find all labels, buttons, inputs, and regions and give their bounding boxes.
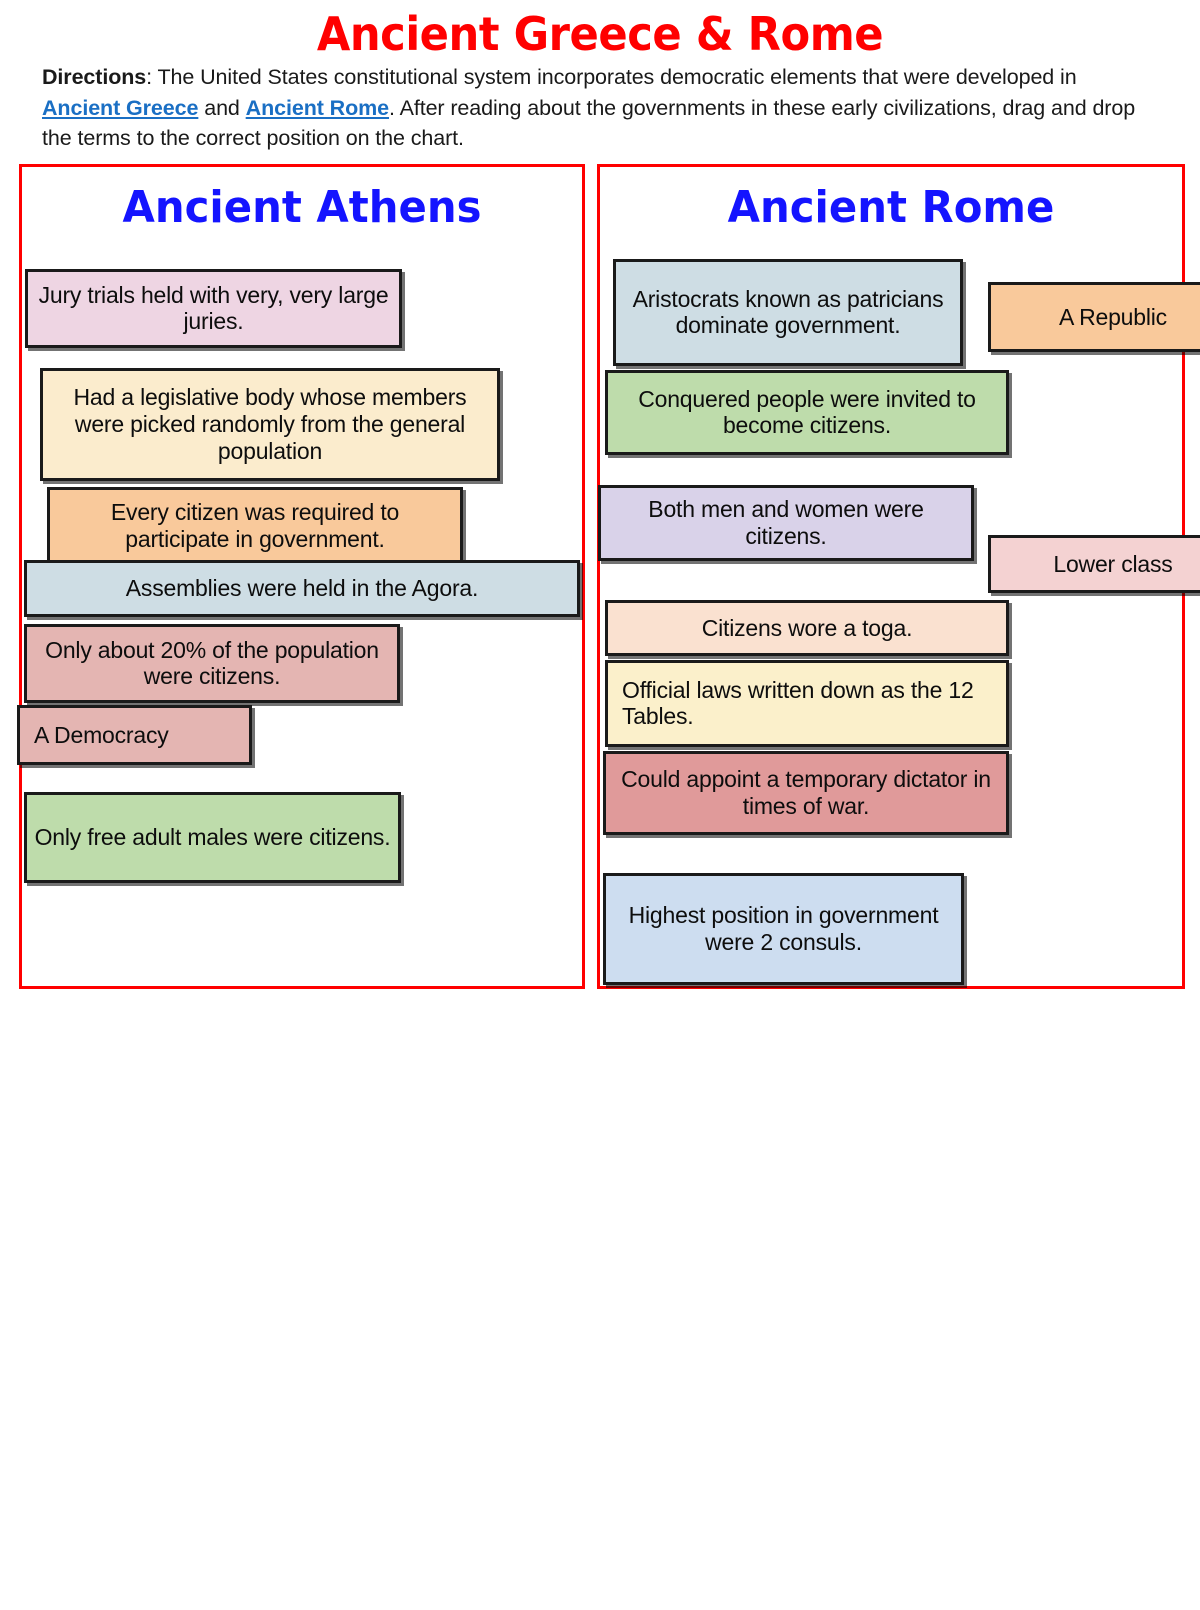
term-tile-label: Assemblies were held in the Agora.	[33, 575, 571, 602]
term-tile-a-democracy[interactable]: A Democracy	[17, 705, 252, 765]
term-tile-aristocrats-patricians[interactable]: Aristocrats known as patricians dominate…	[613, 259, 963, 366]
term-tile-two-consuls[interactable]: Highest position in government were 2 co…	[603, 873, 964, 985]
term-tile-assemblies-agora[interactable]: Assemblies were held in the Agora.	[24, 560, 580, 617]
heading-ancient-athens: Ancient Athens	[33, 186, 571, 230]
term-tile-label: Only about 20% of the population were ci…	[33, 637, 391, 690]
directions-part2: and	[198, 96, 245, 120]
term-tile-label: A Republic	[997, 304, 1200, 331]
term-tile-label: Could appoint a temporary dictator in ti…	[612, 766, 1000, 819]
term-tile-label: Had a legislative body whose members wer…	[49, 384, 491, 464]
term-tile-twelve-tables[interactable]: Official laws written down as the 12 Tab…	[605, 660, 1009, 747]
drag-drop-chart: Ancient Athens Ancient Rome Jury trials …	[0, 164, 1200, 1024]
link-ancient-greece[interactable]: Ancient Greece	[42, 96, 198, 120]
term-tile-label: Official laws written down as the 12 Tab…	[622, 677, 1000, 730]
term-tile-conquered-people[interactable]: Conquered people were invited to become …	[605, 370, 1009, 455]
term-tile-label: Every citizen was required to participat…	[56, 499, 454, 552]
term-tile-temporary-dictator[interactable]: Could appoint a temporary dictator in ti…	[603, 751, 1009, 835]
term-tile-both-men-women[interactable]: Both men and women were citizens.	[598, 485, 974, 561]
heading-ancient-rome: Ancient Rome	[612, 186, 1171, 230]
term-tile-a-republic[interactable]: A Republic	[988, 282, 1200, 352]
term-tile-label: Highest position in government were 2 co…	[612, 902, 955, 955]
term-tile-label: Jury trials held with very, very large j…	[34, 282, 393, 335]
term-tile-legislative-body[interactable]: Had a legislative body whose members wer…	[40, 368, 500, 481]
term-tile-label: Conquered people were invited to become …	[614, 386, 1000, 439]
term-tile-label: Both men and women were citizens.	[607, 496, 965, 549]
term-tile-label: Aristocrats known as patricians dominate…	[622, 286, 954, 339]
term-tile-twenty-percent-citizens[interactable]: Only about 20% of the population were ci…	[24, 624, 400, 703]
term-tile-label: A Democracy	[34, 722, 243, 749]
term-tile-citizens-toga[interactable]: Citizens wore a toga.	[605, 600, 1009, 656]
directions-part1: : The United States constitutional syste…	[146, 65, 1076, 89]
term-tile-every-citizen-participate[interactable]: Every citizen was required to participat…	[47, 487, 463, 565]
link-ancient-rome[interactable]: Ancient Rome	[246, 96, 389, 120]
term-tile-free-adult-males[interactable]: Only free adult males were citizens.	[24, 792, 401, 883]
term-tile-label: Only free adult males were citizens.	[33, 824, 392, 851]
term-tile-jury-trials[interactable]: Jury trials held with very, very large j…	[25, 269, 402, 348]
page-title: Ancient Greece & Rome	[36, 10, 1164, 58]
directions-text: Directions: The United States constituti…	[0, 62, 1200, 154]
term-tile-label: Lower class	[997, 551, 1200, 578]
term-tile-lower-class[interactable]: Lower class	[988, 535, 1200, 593]
term-tile-label: Citizens wore a toga.	[614, 615, 1000, 642]
directions-label: Directions	[42, 65, 146, 89]
